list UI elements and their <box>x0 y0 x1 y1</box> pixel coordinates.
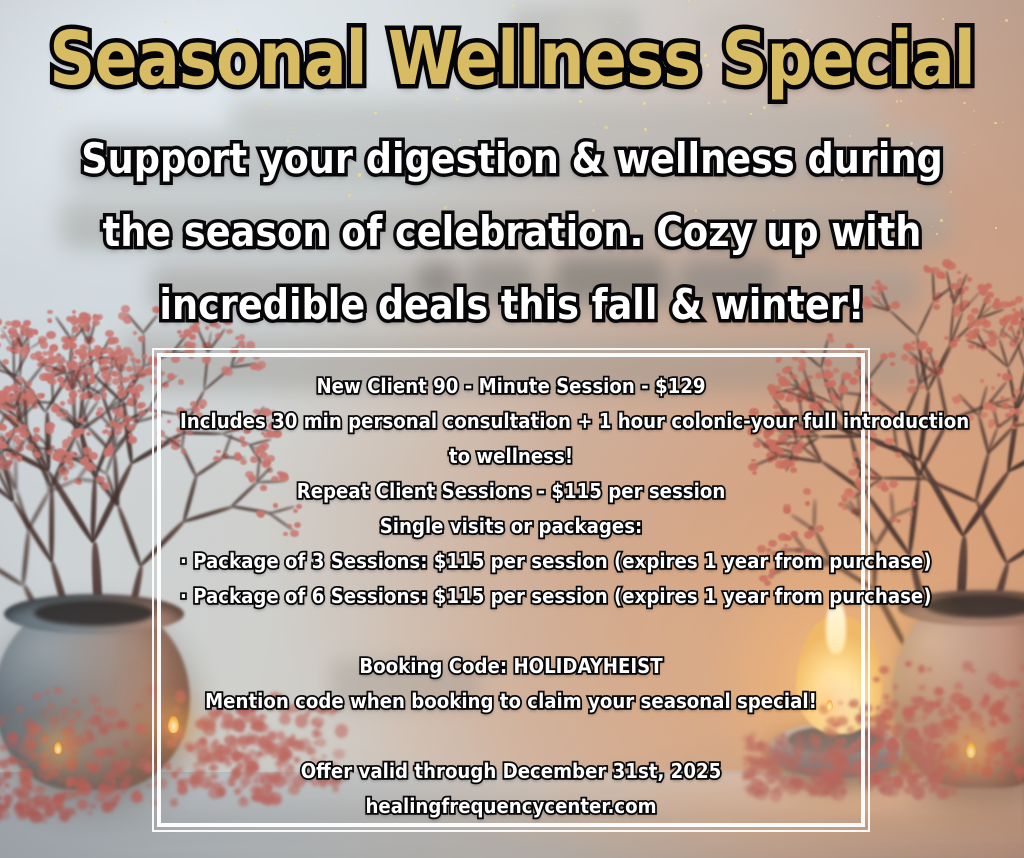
repeat-client-rate: Repeat Client Sessions - $115 per sessio… <box>180 474 842 509</box>
offer-validity: Offer valid through December 31st, 2025 <box>180 754 842 789</box>
booking-code: Booking Code: HOLIDAYHEIST <box>180 649 842 684</box>
package-of-3: · Package of 3 Sessions: $115 per sessio… <box>180 544 842 579</box>
packages-heading: Single visits or packages: <box>180 509 842 544</box>
offer-details-frame-inner: New Client 90 - Minute Session - $129 In… <box>157 353 865 827</box>
subtitle-line-1: Support your digestion & wellness during <box>74 122 951 195</box>
subtitle: Support your digestion & wellness during… <box>74 122 951 341</box>
details-spacer-2 <box>180 719 842 754</box>
subtitle-line-2: the season of celebration. Cozy up with <box>74 195 951 268</box>
promotional-poster: Seasonal Wellness Special Support your d… <box>0 0 1024 858</box>
website-url: healingfrequencycenter.com <box>180 789 842 824</box>
offer-details-frame: New Client 90 - Minute Session - $129 In… <box>152 348 870 832</box>
booking-instruction: Mention code when booking to claim your … <box>180 684 842 719</box>
package-of-6: · Package of 6 Sessions: $115 per sessio… <box>180 579 842 614</box>
new-client-includes-line-1: Includes 30 min personal consultation + … <box>180 404 842 439</box>
subtitle-line-3: incredible deals this fall & winter! <box>74 268 951 341</box>
new-client-offer: New Client 90 - Minute Session - $129 <box>180 369 842 404</box>
new-client-includes-line-2: to wellness! <box>180 439 842 474</box>
page-title: Seasonal Wellness Special <box>20 22 1003 96</box>
details-spacer-1 <box>180 614 842 649</box>
offer-details-text: New Client 90 - Minute Session - $129 In… <box>180 369 842 824</box>
